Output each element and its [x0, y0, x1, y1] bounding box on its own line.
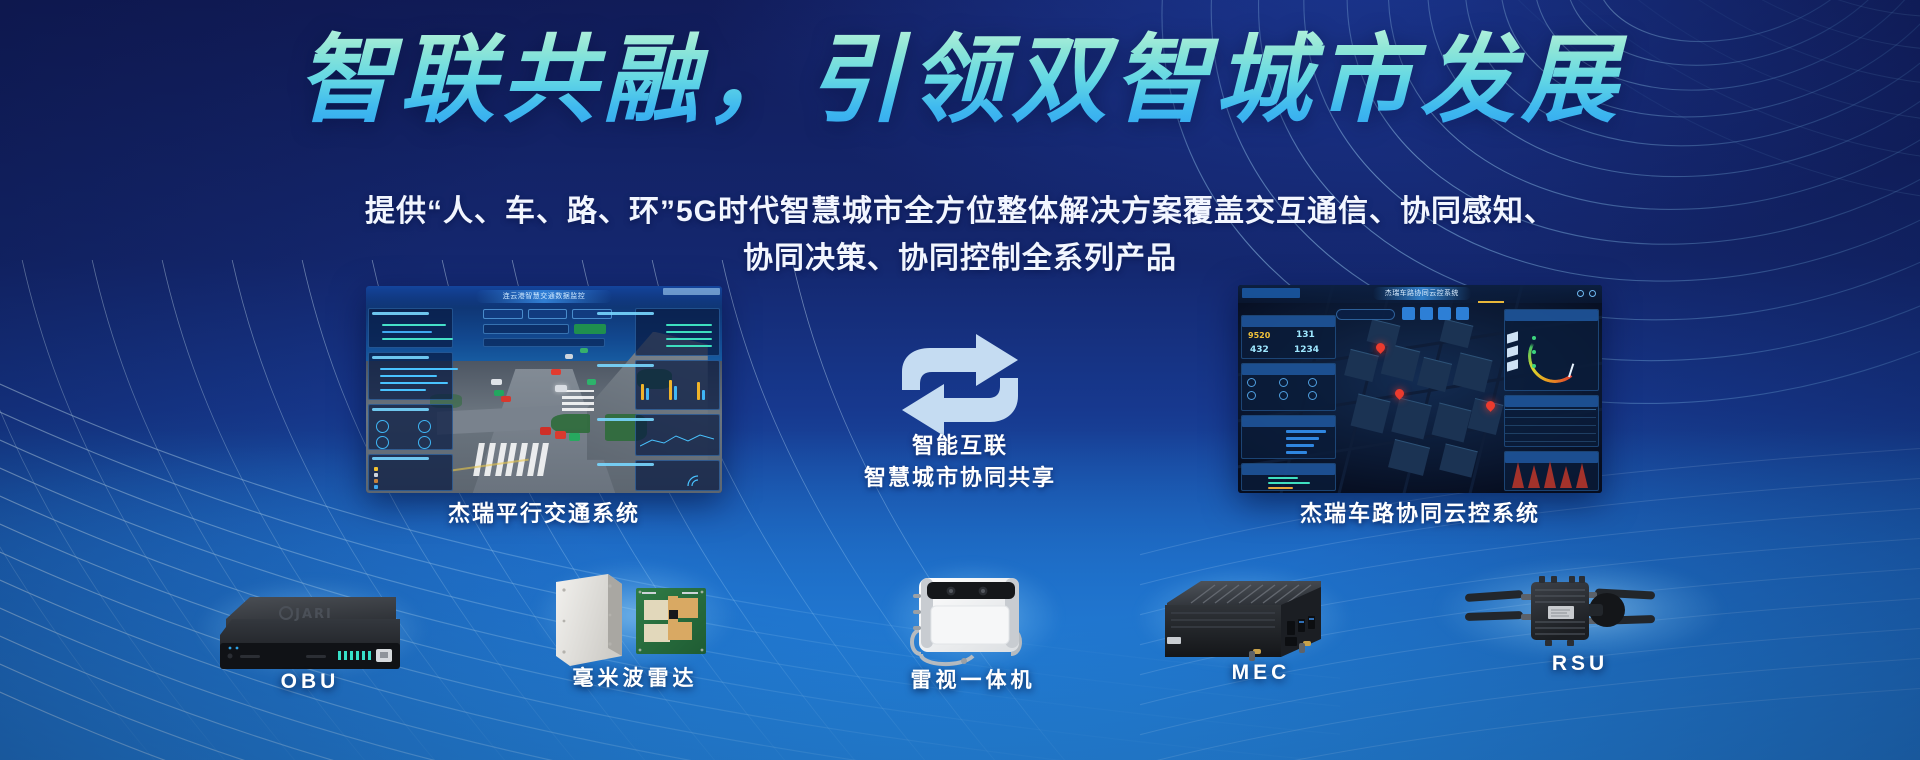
product-label-rsu: RSU [1450, 652, 1710, 676]
table-divider [1505, 409, 1596, 410]
dashboard-button-2[interactable] [528, 309, 567, 319]
chart-bar [669, 380, 672, 400]
scene-vehicle [565, 354, 573, 359]
status-bar [1268, 477, 1298, 479]
kpi-value-1: 9520 [1248, 331, 1270, 340]
center-caption: 智能互联 智慧城市协同共享 [790, 430, 1130, 494]
scene-vehicle [494, 390, 504, 396]
dashboard-timeline[interactable] [483, 338, 604, 347]
radar-camera-device-icon [905, 570, 1040, 670]
obu-device-icon: JARI [210, 585, 410, 680]
table-divider [1505, 433, 1596, 434]
widget-title-bar [597, 312, 654, 315]
signal-arc-icon [684, 472, 714, 488]
panel-header [1242, 416, 1335, 427]
crosswalk-stripe [562, 396, 594, 399]
widget-title-bar [597, 364, 654, 367]
crosswalk-stripe [562, 408, 594, 411]
dashboard-title-left: 连云港智慧交通数据监控 [476, 290, 611, 303]
rank-badge [374, 473, 378, 477]
chart-bar [697, 382, 700, 400]
map-device-icon[interactable] [1438, 307, 1451, 320]
center-caption-line-1: 智能互联 [790, 430, 1130, 462]
product-rsu[interactable]: RSU [1455, 568, 1705, 663]
scene-vehicle [569, 433, 580, 441]
widget-icon-circle [376, 420, 389, 433]
map-route-icon[interactable] [1420, 307, 1433, 320]
widget-title-bar [597, 418, 654, 421]
chart-bar [646, 388, 649, 400]
data-bar [666, 324, 712, 326]
dashboard-button-1[interactable] [483, 309, 522, 319]
weather-icon [1279, 378, 1288, 387]
widget-title-bar [372, 356, 429, 359]
exchange-arrows-icon [890, 330, 1030, 440]
data-bar [380, 368, 458, 370]
data-bar [380, 389, 426, 391]
congestion-bar [1286, 451, 1307, 454]
status-bar [1268, 487, 1293, 489]
product-radar-camera[interactable]: 雷视一体机 [905, 570, 1040, 670]
data-bar [382, 331, 432, 333]
weather-icon [1308, 391, 1317, 400]
peak-chart-bar [1544, 461, 1556, 488]
scene-vehicle [555, 385, 567, 392]
caption-parallel-traffic: 杰瑞平行交通系统 [334, 496, 754, 528]
power-icon[interactable] [1589, 290, 1596, 297]
chart-bar [674, 386, 677, 400]
product-label-radar-camera: 雷视一体机 [843, 664, 1103, 694]
data-bar [380, 382, 448, 384]
product-mmwave-radar[interactable]: 毫米波雷达 [550, 570, 720, 670]
scene-vehicle [540, 427, 551, 435]
status-dot [1532, 336, 1536, 340]
scene-vehicle [491, 379, 502, 385]
dashboard-corner-tag [663, 288, 720, 295]
data-bar [666, 331, 712, 333]
dashboard-toggle[interactable] [574, 324, 606, 334]
rank-badge [374, 467, 378, 471]
chart-bar [641, 384, 644, 400]
data-bar [382, 338, 453, 340]
caption-cloud-control: 杰瑞车路协同云控系统 [1210, 496, 1630, 528]
weather-icon [1308, 378, 1317, 387]
dashboard-screenshot-parallel-traffic[interactable]: 连云港智慧交通数据监控 [366, 286, 722, 493]
svg-text:JARI: JARI [294, 607, 333, 622]
table-divider [1505, 417, 1596, 418]
subtitle-line-2: 协同决策、协同控制全系列产品 [0, 235, 1920, 282]
widget-title-bar [372, 312, 429, 315]
panel-header [1505, 310, 1598, 321]
data-bar [382, 324, 446, 326]
chart-bar [702, 390, 705, 400]
peak-chart-bar [1560, 466, 1572, 488]
weather-icon [1279, 391, 1288, 400]
dashboard-brand-tag [1242, 288, 1300, 298]
weather-icon [1247, 391, 1256, 400]
crosswalk-stripe [562, 402, 594, 405]
kpi-value-4: 1234 [1294, 345, 1319, 355]
scene-vehicle [501, 396, 511, 402]
dashboard-screenshot-cloud-control[interactable]: 杰瑞车路协同云控系统 9520 131 432 1234 [1238, 285, 1602, 493]
product-obu[interactable]: JARI OBU [210, 585, 410, 680]
weather-icon [1247, 378, 1256, 387]
status-bar [1268, 482, 1310, 484]
scene-vehicle [551, 369, 561, 375]
map-cloud-icon[interactable] [1456, 307, 1469, 320]
data-bar [666, 338, 712, 340]
rsu-device-icon [1455, 568, 1705, 663]
kpi-value-2: 131 [1296, 330, 1315, 340]
page-subtitle: 提供“人、车、路、环”5G时代智慧城市全方位整体解决方案覆盖交互通信、协同感知、… [0, 188, 1920, 283]
scene-vehicle [555, 431, 566, 439]
data-bar [666, 345, 712, 347]
banner-stage: 智联共融，引领双智城市发展 提供“人、车、路、环”5G时代智慧城市全方位整体解决… [0, 0, 1920, 760]
panel-header [1242, 364, 1335, 375]
dashboard-search-input[interactable] [483, 324, 568, 334]
congestion-bar [1286, 444, 1314, 447]
table-divider [1505, 441, 1596, 442]
panel-header [1242, 316, 1335, 327]
mmwave-radar-device-icon [550, 570, 720, 670]
peak-chart-bar [1528, 465, 1540, 488]
rank-badge [374, 479, 378, 483]
peak-chart-bar [1512, 462, 1524, 488]
settings-icon[interactable] [1577, 290, 1584, 297]
page-title: 智联共融，引领双智城市发展 [0, 24, 1920, 137]
subtitle-line-1: 提供“人、车、路、环”5G时代智慧城市全方位整体解决方案覆盖交互通信、协同感知、 [0, 188, 1920, 235]
trend-line-chart [640, 430, 714, 452]
scene-vehicle [587, 379, 596, 385]
map-search-input[interactable] [1336, 309, 1394, 320]
widget-title-bar [372, 457, 429, 460]
dashboard-right-content: 杰瑞车路协同云控系统 9520 131 432 1234 [1238, 285, 1602, 493]
congestion-bar [1286, 437, 1319, 440]
widget-title-bar [597, 463, 654, 466]
rank-badge [374, 485, 378, 489]
product-label-obu: OBU [180, 670, 440, 694]
product-label-mmwave: 毫米波雷达 [505, 662, 765, 692]
mec-device-icon [1155, 575, 1330, 670]
dashboard-left-content: 连云港智慧交通数据监控 [366, 286, 722, 493]
right-widget-chart[interactable] [635, 360, 720, 410]
center-caption-line-2: 智慧城市协同共享 [790, 462, 1130, 494]
data-bar [380, 375, 437, 377]
tab-active-underline [1478, 301, 1503, 303]
kpi-value-3: 432 [1250, 345, 1269, 355]
widget-title-bar [372, 408, 429, 411]
peak-chart-bar [1576, 463, 1588, 488]
table-divider [1505, 425, 1596, 426]
panel-header [1242, 464, 1335, 475]
scene-vehicle [580, 348, 588, 353]
widget-icon-circle [418, 436, 431, 449]
widget-icon-circle [418, 420, 431, 433]
widget-icon-circle [376, 436, 389, 449]
product-label-mec: MEC [1131, 661, 1391, 685]
product-mec[interactable]: MEC [1155, 575, 1330, 670]
map-layer-icon[interactable] [1402, 307, 1415, 320]
dashboard-title-right: 杰瑞车路协同云控系统 [1373, 287, 1471, 300]
panel-header [1505, 396, 1598, 407]
health-gauge [1528, 329, 1582, 383]
status-dot [1532, 350, 1536, 354]
status-dot [1532, 364, 1536, 368]
congestion-bar [1286, 430, 1326, 433]
